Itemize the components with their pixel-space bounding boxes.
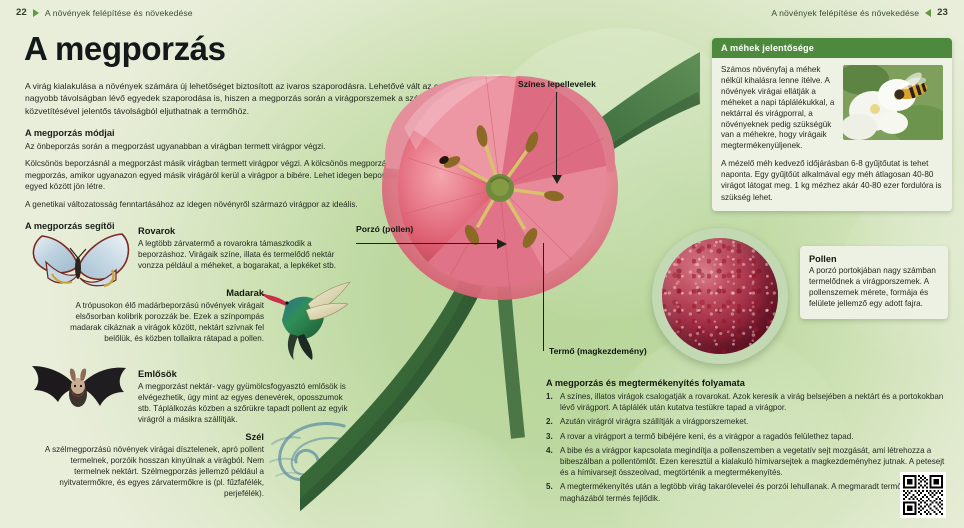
pollinator-title-birds: Madarak bbox=[42, 288, 264, 298]
qr-code-icon bbox=[903, 475, 943, 515]
page-title: A megporzás bbox=[24, 30, 226, 68]
process-step: 5. A megtermékenyítés után a legtöbb vir… bbox=[546, 481, 946, 503]
page-number-right: 23 bbox=[937, 7, 948, 18]
process-list: 1. A színes, illatos virágok csalogatják… bbox=[546, 391, 946, 504]
pollinator-block-birds: Madarak A trópusokon élő madárbeporzású … bbox=[42, 288, 264, 344]
process-step: 2. Azután virágról virágra szállítják a … bbox=[546, 416, 946, 427]
process-heading: A megporzás és megtermékenyítés folyamat… bbox=[546, 378, 946, 388]
step-text: A rovar a virágport a termő bibéjére ken… bbox=[560, 431, 946, 442]
step-number: 1. bbox=[546, 391, 556, 413]
process-section: A megporzás és megtermékenyítés folyamat… bbox=[546, 378, 946, 507]
bee-box-paragraph-1: Számos növényfaj a méhek nélkül kihalásr… bbox=[721, 65, 835, 152]
pollinator-body-wind: A szélmegporzású növények virágai díszte… bbox=[38, 444, 264, 499]
process-step: 3. A rovar a virágport a termő bibéjére … bbox=[546, 431, 946, 442]
callout-tepals: Színes lepellevelek bbox=[518, 79, 596, 89]
step-text: A színes, illatos virágok csalogatják a … bbox=[560, 391, 946, 413]
pollinator-title-wind: Szél bbox=[38, 432, 264, 442]
textbook-spread: 22 A növények felépítése és növekedése A… bbox=[0, 0, 964, 528]
bee-importance-box: A méhek jelentősége Számos növényfaj a m… bbox=[712, 38, 952, 211]
running-head-right: A növények felépítése és növekedése 23 bbox=[771, 7, 948, 18]
process-step: 4. A bibe és a virágpor kapcsolata megin… bbox=[546, 445, 946, 479]
leader-line-tepals bbox=[556, 92, 557, 177]
step-number: 3. bbox=[546, 431, 556, 442]
pollen-info-box: Pollen A porzó portokjában nagy számban … bbox=[800, 246, 948, 319]
leader-arrow-stamen bbox=[496, 238, 507, 250]
arrow-left-icon bbox=[925, 9, 931, 17]
bee-box-body: Számos növényfaj a méhek nélkül kihalásr… bbox=[712, 58, 952, 211]
step-text: A megtermékenyítés után a legtöbb virág … bbox=[560, 481, 946, 503]
leader-arrow-tepals bbox=[551, 174, 563, 184]
running-title-left: A növények felépítése és növekedése bbox=[45, 8, 193, 18]
running-head-left: 22 A növények felépítése és növekedése bbox=[16, 7, 193, 18]
arrow-right-icon bbox=[33, 9, 39, 17]
pollen-magnifier bbox=[652, 228, 788, 364]
leader-line-stamen bbox=[356, 243, 500, 244]
qr-code[interactable] bbox=[900, 472, 946, 518]
bee-on-blossom-photo bbox=[843, 65, 943, 140]
pollen-box-body: A porzó portokjában nagy számban termelő… bbox=[809, 266, 939, 310]
callout-pistil: Termő (magkezdemény) bbox=[549, 346, 647, 356]
pollinator-body-birds: A trópusokon élő madárbeporzású növények… bbox=[42, 300, 264, 344]
pollen-grain-illustration bbox=[662, 238, 778, 354]
step-number: 5. bbox=[546, 481, 556, 503]
pollinator-block-wind: Szél A szélmegporzású növények virágai d… bbox=[38, 432, 264, 499]
step-number: 4. bbox=[546, 445, 556, 479]
bee-box-heading: A méhek jelentősége bbox=[712, 38, 952, 58]
pollen-box-heading: Pollen bbox=[809, 254, 939, 264]
step-text: Azután virágról virágra szállítják a vir… bbox=[560, 416, 946, 427]
process-step: 1. A színes, illatos virágok csalogatják… bbox=[546, 391, 946, 413]
step-text: A bibe és a virágpor kapcsolata megindít… bbox=[560, 445, 946, 479]
leader-line-pistil bbox=[543, 243, 544, 351]
callout-stamen: Porzó (pollen) bbox=[356, 224, 413, 234]
bee-box-paragraph-2: A mézelő méh kedvező időjárásban 6-8 gyű… bbox=[721, 158, 943, 202]
page-number-left: 22 bbox=[16, 7, 27, 18]
bat-illustration bbox=[22, 358, 134, 428]
running-title-right: A növények felépítése és növekedése bbox=[771, 8, 919, 18]
step-number: 2. bbox=[546, 416, 556, 427]
